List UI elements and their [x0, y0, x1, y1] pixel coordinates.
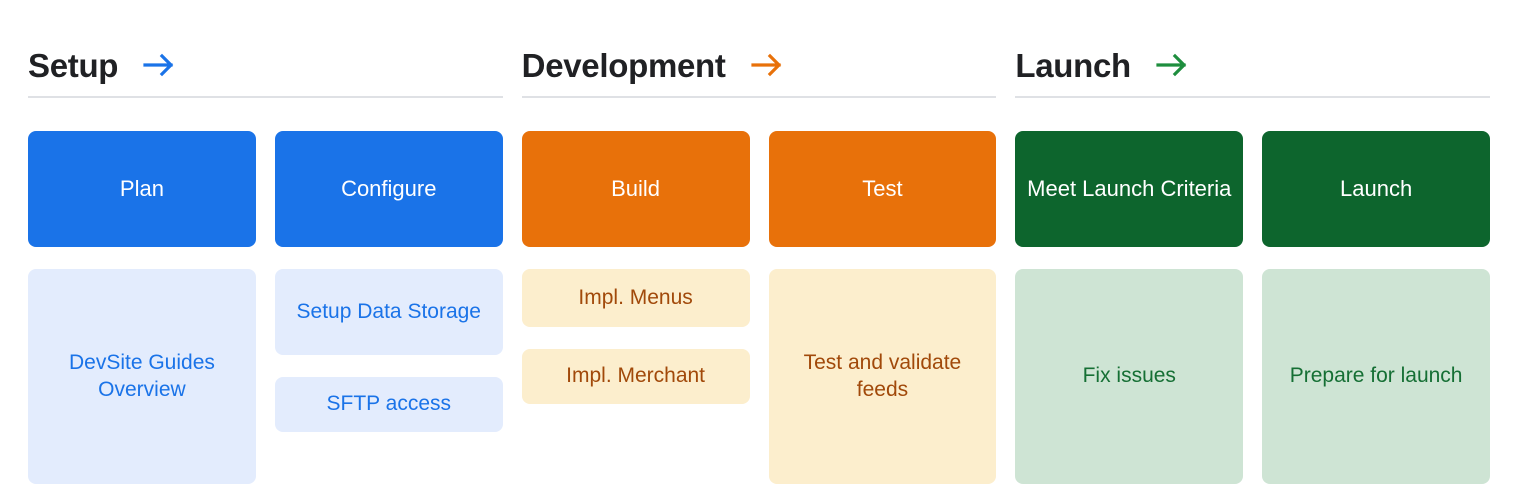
- card-impl-merchant[interactable]: Impl. Merchant: [522, 349, 750, 404]
- track-meet-launch-criteria: Meet Launch Criteria Fix issues: [1015, 131, 1243, 484]
- card-impl-menus[interactable]: Impl. Menus: [522, 269, 750, 327]
- sub-stack-test: Test and validate feeds: [769, 269, 997, 484]
- card-sftp-access[interactable]: SFTP access: [275, 377, 503, 432]
- card-setup-data-storage[interactable]: Setup Data Storage: [275, 269, 503, 355]
- phase-header-launch: Launch: [1015, 0, 1490, 96]
- card-build[interactable]: Build: [522, 131, 750, 247]
- sub-stack-launch: Prepare for launch: [1262, 269, 1490, 484]
- track-test: Test Test and validate feeds: [769, 131, 997, 484]
- track-build: Build Impl. Menus Impl. Merchant: [522, 131, 750, 484]
- phase-body-launch: Meet Launch Criteria Fix issues Launch P…: [1015, 131, 1490, 484]
- phase-body-setup: Plan DevSite Guides Overview Configure S…: [28, 131, 503, 484]
- card-fix-issues[interactable]: Fix issues: [1015, 269, 1243, 484]
- phase-divider-setup: [28, 96, 503, 98]
- arrow-right-icon: [142, 51, 176, 79]
- process-roadmap: Setup Plan DevSite Guides Overview Confi…: [0, 0, 1518, 484]
- phase-title-development: Development: [522, 49, 726, 82]
- phase-development: Development Build Impl. Menus Impl. Merc…: [522, 0, 997, 484]
- card-test[interactable]: Test: [769, 131, 997, 247]
- card-meet-launch-criteria[interactable]: Meet Launch Criteria: [1015, 131, 1243, 247]
- arrow-right-icon: [750, 51, 784, 79]
- track-launch: Launch Prepare for launch: [1262, 131, 1490, 484]
- phase-header-development: Development: [522, 0, 997, 96]
- card-launch[interactable]: Launch: [1262, 131, 1490, 247]
- sub-stack-plan: DevSite Guides Overview: [28, 269, 256, 484]
- card-configure[interactable]: Configure: [275, 131, 503, 247]
- track-plan: Plan DevSite Guides Overview: [28, 131, 256, 484]
- card-prepare-for-launch[interactable]: Prepare for launch: [1262, 269, 1490, 484]
- phase-header-setup: Setup: [28, 0, 503, 96]
- track-configure: Configure Setup Data Storage SFTP access: [275, 131, 503, 484]
- phase-divider-development: [522, 96, 997, 98]
- phase-divider-launch: [1015, 96, 1490, 98]
- sub-stack-meet-launch-criteria: Fix issues: [1015, 269, 1243, 484]
- card-plan[interactable]: Plan: [28, 131, 256, 247]
- card-devsite-guides-overview[interactable]: DevSite Guides Overview: [28, 269, 256, 484]
- sub-stack-configure: Setup Data Storage SFTP access: [275, 269, 503, 484]
- arrow-right-icon: [1155, 51, 1189, 79]
- phase-title-setup: Setup: [28, 49, 118, 82]
- phase-body-development: Build Impl. Menus Impl. Merchant Test Te…: [522, 131, 997, 484]
- card-test-and-validate-feeds[interactable]: Test and validate feeds: [769, 269, 997, 484]
- phase-setup: Setup Plan DevSite Guides Overview Confi…: [28, 0, 503, 484]
- phase-title-launch: Launch: [1015, 49, 1131, 82]
- sub-stack-build: Impl. Menus Impl. Merchant: [522, 269, 750, 484]
- phase-launch: Launch Meet Launch Criteria Fix issues L…: [1015, 0, 1490, 484]
